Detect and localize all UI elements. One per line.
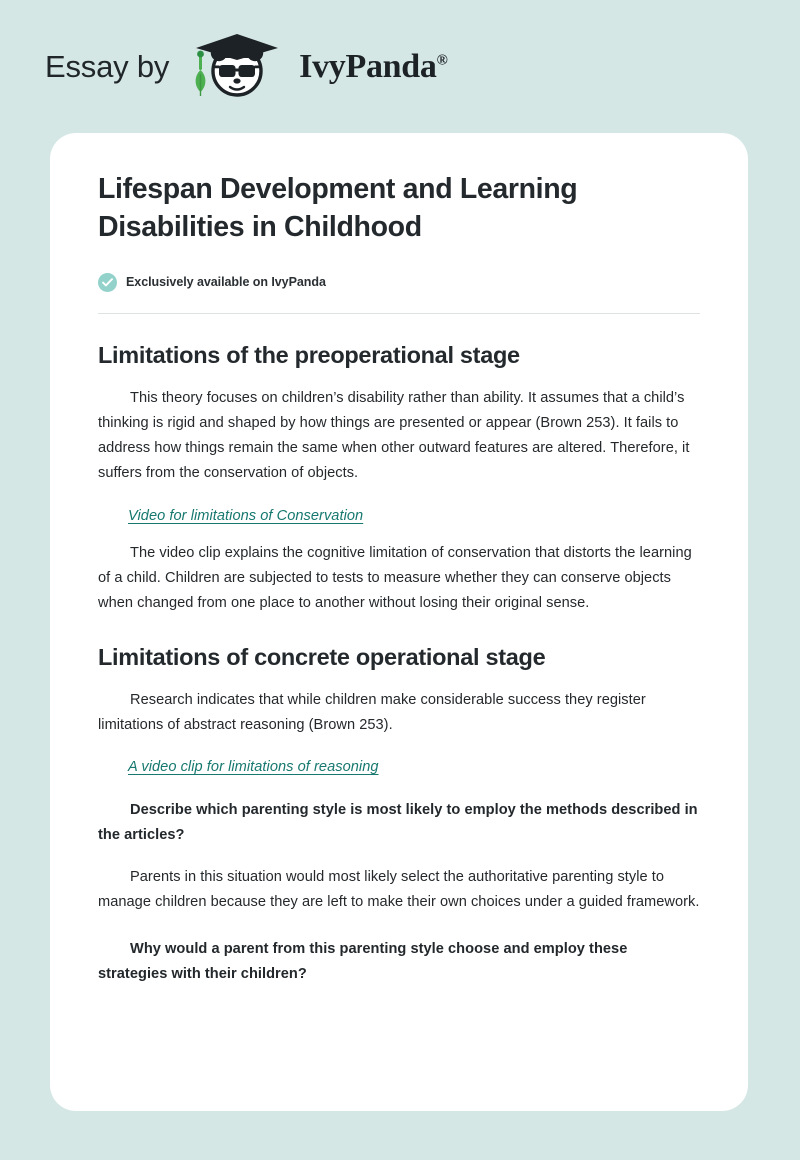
- paragraph: Research indicates that while children m…: [98, 688, 700, 738]
- question-prompt: Describe which parenting style is most l…: [98, 798, 700, 848]
- essay-card: Lifespan Development and Learning Disabi…: [50, 133, 748, 1111]
- video-link-row-2: A video clip for limitations of reasonin…: [98, 758, 700, 776]
- wordmark-text: IvyPanda: [299, 48, 436, 85]
- paragraph: This theory focuses on children’s disabi…: [98, 386, 700, 486]
- brand-header: Essay by: [0, 0, 800, 133]
- ivypanda-wordmark: IvyPanda®: [299, 50, 447, 84]
- section-heading-1: Limitations of the preoperational stage: [98, 341, 700, 370]
- paragraph: Parents in this situation would most lik…: [98, 865, 700, 915]
- panda-graduate-logo-icon: [182, 34, 290, 100]
- essay-by-label: Essay by: [45, 51, 169, 82]
- registered-trademark-icon: ®: [437, 52, 448, 68]
- page-title: Lifespan Development and Learning Disabi…: [98, 171, 700, 247]
- status-badge-label: Exclusively available on IvyPanda: [126, 275, 326, 289]
- title-divider: [98, 313, 700, 314]
- video-link-conservation[interactable]: Video for limitations of Conservation: [128, 508, 363, 524]
- brand-logo-group[interactable]: Essay by: [45, 34, 448, 100]
- video-link-row-1: Video for limitations of Conservation: [98, 507, 700, 525]
- check-circle-icon: [98, 273, 117, 292]
- section-heading-2: Limitations of concrete operational stag…: [98, 643, 700, 672]
- status-badge: Exclusively available on IvyPanda: [98, 273, 700, 292]
- paragraph: The video clip explains the cognitive li…: [98, 541, 700, 616]
- video-link-reasoning[interactable]: A video clip for limitations of reasonin…: [128, 759, 379, 775]
- question-prompt: Why would a parent from this parenting s…: [98, 937, 700, 987]
